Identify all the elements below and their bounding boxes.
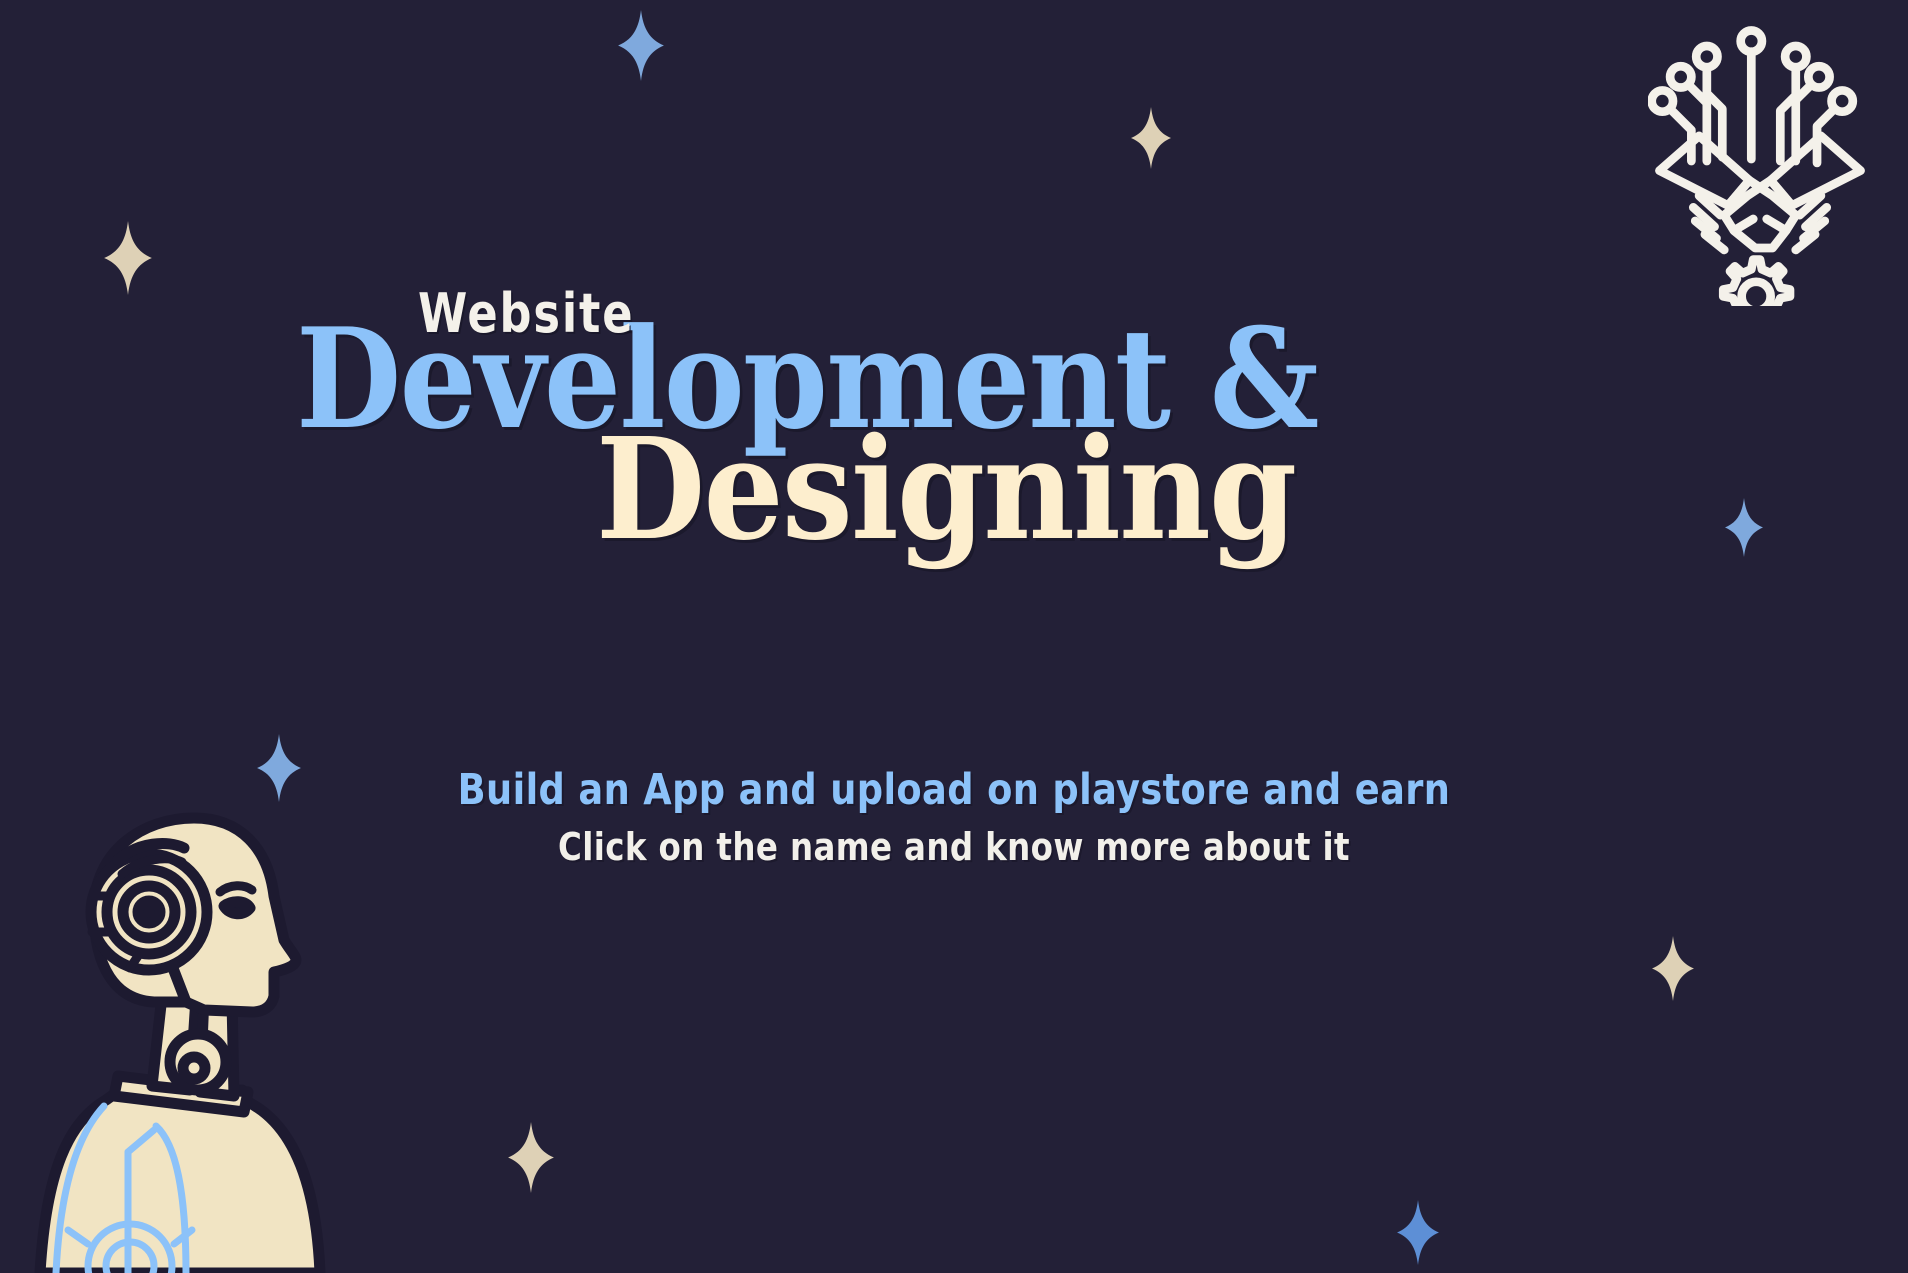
headline-line-2: Designing	[596, 420, 1295, 560]
robot-bust-illustration	[34, 800, 334, 1273]
sparkle-diamond-icon	[508, 1122, 554, 1193]
handshake-circuit-gear-icon	[1648, 16, 1872, 306]
headline-eyebrow: Website	[418, 282, 634, 345]
sparkle-diamond-icon	[1397, 1200, 1439, 1265]
poster-canvas: Website Development & Designing Build an…	[0, 0, 1908, 1273]
sparkle-diamond-icon	[1725, 498, 1763, 557]
sparkle-diamond-icon	[1652, 936, 1694, 1001]
sparkle-diamond-icon	[1131, 107, 1171, 169]
sparkle-diamond-icon	[104, 221, 152, 295]
sparkle-diamond-icon	[618, 10, 664, 81]
